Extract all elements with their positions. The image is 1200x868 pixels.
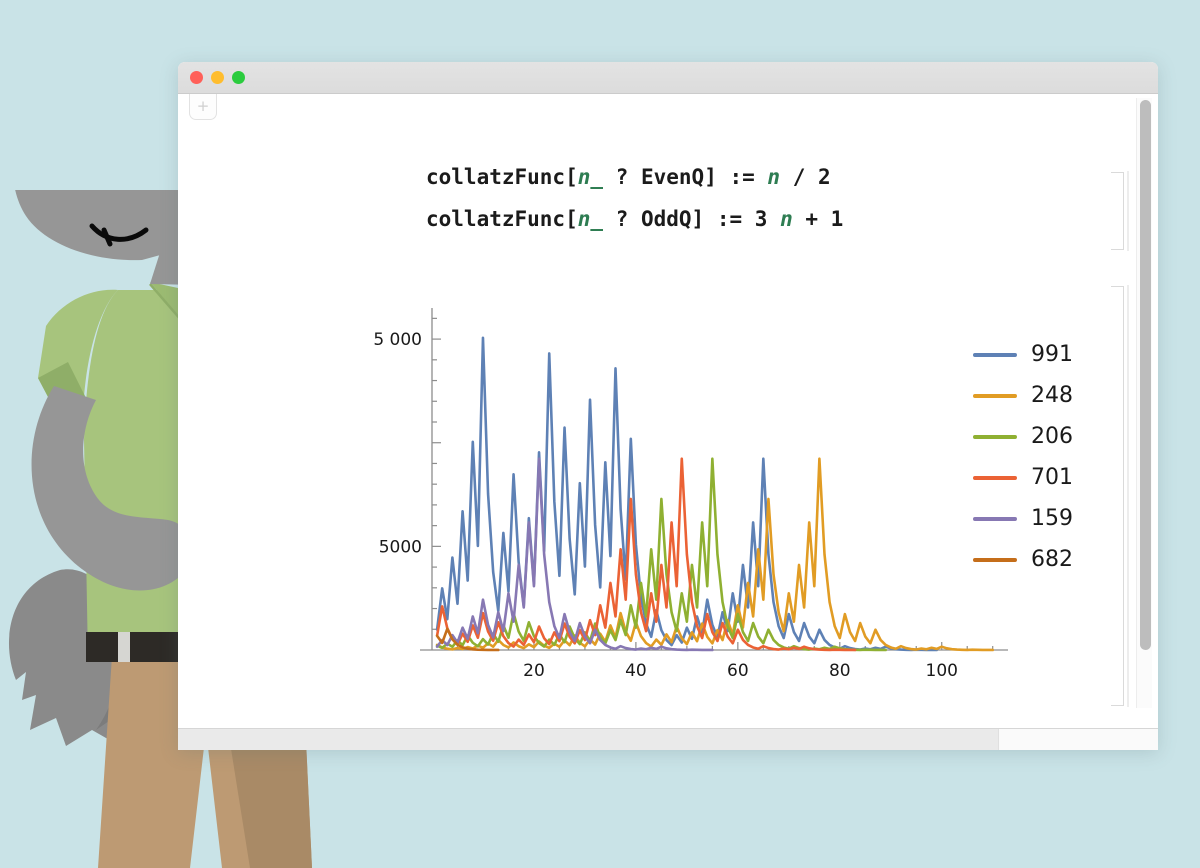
- legend-swatch-682: [973, 558, 1017, 562]
- bracket-close: ]: [704, 165, 717, 189]
- code-cell[interactable]: collatzFunc[n_ ? EvenQ] := n / 2 collatz…: [426, 156, 843, 240]
- collatz-plot-svg: 500015 00020406080100: [374, 294, 1014, 694]
- wolf-belt-loop: [118, 632, 130, 662]
- pattern-test: ? EvenQ: [603, 165, 704, 189]
- legend-label-682: 682: [1031, 547, 1073, 572]
- y-tick-label: 15 000: [374, 330, 422, 350]
- wolf-left-sleeve: [38, 290, 118, 412]
- cell-bracket-input[interactable]: [1111, 172, 1124, 250]
- assign-operator: :=: [717, 165, 768, 189]
- close-button[interactable]: [190, 71, 203, 84]
- plus-icon: +: [197, 99, 210, 114]
- legend-swatch-991: [973, 353, 1017, 357]
- cell-bracket-output[interactable]: [1111, 286, 1124, 706]
- legend-item[interactable]: 206: [973, 416, 1073, 457]
- x-tick-label: 60: [727, 661, 749, 681]
- vertical-scrollbar-thumb[interactable]: [1140, 100, 1151, 650]
- legend-item[interactable]: 159: [973, 498, 1073, 539]
- function-name: collatzFunc: [426, 165, 565, 189]
- notebook-content: + collatzFunc[n_ ? EvenQ] := n / 2 colla…: [178, 94, 1158, 750]
- legend-label-991: 991: [1031, 342, 1073, 367]
- pattern-symbol: n_: [578, 165, 603, 189]
- series-line-991: [437, 338, 937, 650]
- wolf-mouth-crease: [104, 230, 110, 244]
- minimize-button[interactable]: [211, 71, 224, 84]
- notebook-window[interactable]: + collatzFunc[n_ ? EvenQ] := n / 2 colla…: [178, 62, 1158, 750]
- wolf-tail-shadow: [96, 610, 131, 730]
- window-titlebar[interactable]: [178, 62, 1158, 94]
- collatz-plot[interactable]: 500015 00020406080100: [374, 294, 1014, 694]
- bracket-close: ]: [692, 207, 705, 231]
- y-tick-label: 5000: [379, 537, 422, 557]
- vertical-scrollbar[interactable]: [1136, 98, 1152, 708]
- wolf-left-arm: [32, 386, 193, 591]
- rhs-expression: + 1: [793, 207, 844, 231]
- wolf-left-cuff: [38, 362, 86, 412]
- wolf-mouth: [92, 226, 146, 239]
- legend-label-701: 701: [1031, 465, 1073, 490]
- legend-item[interactable]: 248: [973, 375, 1073, 416]
- function-name: collatzFunc: [426, 207, 565, 231]
- legend-swatch-159: [973, 517, 1017, 521]
- x-tick-label: 20: [523, 661, 545, 681]
- rhs-symbol: n: [767, 165, 780, 189]
- horizontal-scrollbar[interactable]: [998, 729, 1158, 750]
- legend-label-206: 206: [1031, 424, 1073, 449]
- x-tick-label: 100: [926, 661, 958, 681]
- legend-label-248: 248: [1031, 383, 1073, 408]
- rhs-symbol: n: [780, 207, 793, 231]
- maximize-button[interactable]: [232, 71, 245, 84]
- legend-swatch-206: [973, 435, 1017, 439]
- plot-legend: 991 248 206 701 159 682: [973, 334, 1073, 580]
- assign-operator: :=: [704, 207, 755, 231]
- plot-series-group: [437, 338, 993, 650]
- code-line-odd[interactable]: collatzFunc[n_ ? OddQ] := 3 n + 1: [426, 198, 843, 240]
- rhs-coefficient: 3: [755, 207, 780, 231]
- code-line-even[interactable]: collatzFunc[n_ ? EvenQ] := n / 2: [426, 156, 843, 198]
- bracket-open: [: [565, 165, 578, 189]
- x-tick-label: 80: [829, 661, 851, 681]
- legend-label-159: 159: [1031, 506, 1073, 531]
- new-tab-button[interactable]: +: [189, 94, 217, 120]
- bracket-open: [: [565, 207, 578, 231]
- legend-item[interactable]: 991: [973, 334, 1073, 375]
- pattern-test: ? OddQ: [603, 207, 692, 231]
- x-tick-label: 40: [625, 661, 647, 681]
- status-bar: [178, 728, 1158, 750]
- legend-item[interactable]: 682: [973, 539, 1073, 580]
- legend-swatch-248: [973, 394, 1017, 398]
- pattern-symbol: n_: [578, 207, 603, 231]
- wolf-tail: [9, 569, 144, 746]
- legend-item[interactable]: 701: [973, 457, 1073, 498]
- rhs-expression: / 2: [780, 165, 831, 189]
- legend-swatch-701: [973, 476, 1017, 480]
